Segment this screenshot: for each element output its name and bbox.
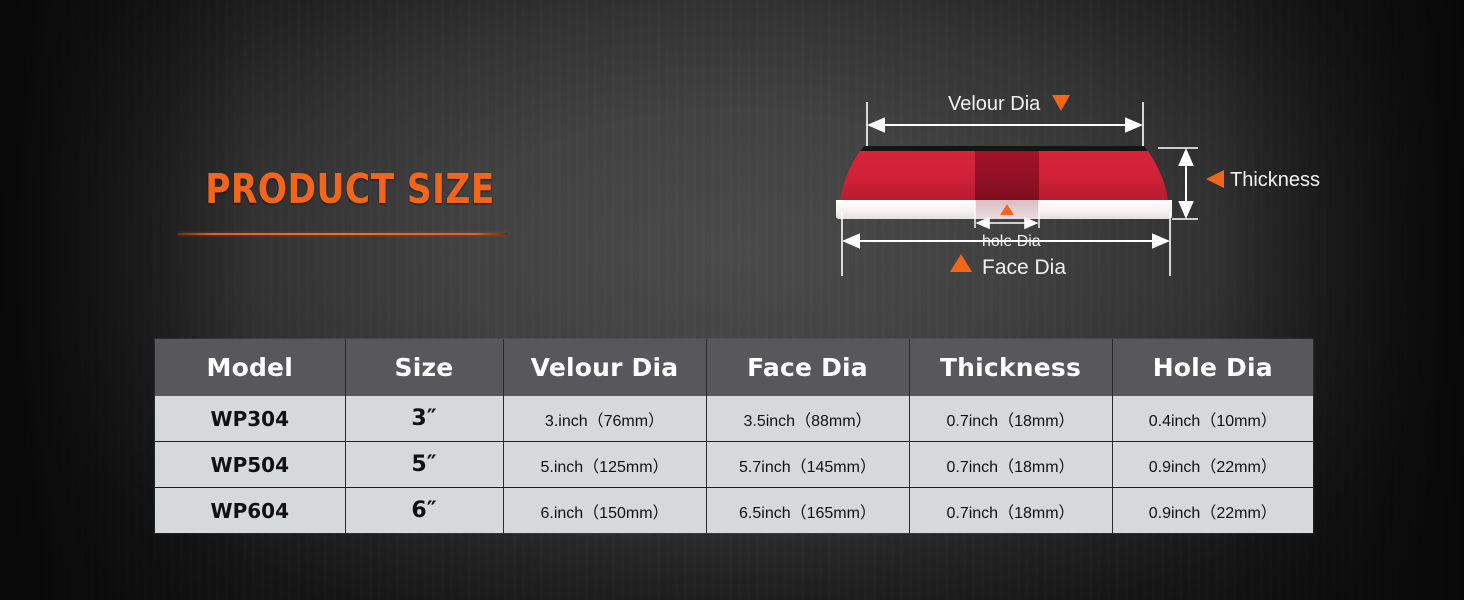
cell-thickness: 0.7inch（18mm） — [909, 396, 1112, 442]
cell-velour-dia: 5.inch（125mm） — [503, 442, 706, 488]
cell-model: WP504 — [155, 442, 345, 488]
cell-hole-dia: 0.9inch（22mm） — [1112, 488, 1313, 534]
column-header-size: Size — [345, 339, 503, 396]
velour-dia-marker-triangle — [1052, 95, 1070, 111]
cell-velour-dia: 6.inch（150mm） — [503, 488, 706, 534]
column-header-hole-dia: Hole Dia — [1112, 339, 1313, 396]
thickness-label: Thickness — [1230, 169, 1320, 191]
cell-face-dia: 3.5inch（88mm） — [706, 396, 909, 442]
title-block: PRODUCT SIZE — [178, 168, 518, 235]
cell-hole-dia: 0.4inch（10mm） — [1112, 396, 1313, 442]
cell-face-dia: 6.5inch（165mm） — [706, 488, 909, 534]
thickness-marker-triangle — [1206, 170, 1224, 188]
cell-size: 5″ — [345, 442, 503, 488]
face-dia-label: Face Dia — [982, 256, 1066, 279]
cell-face-dia: 5.7inch（145mm） — [706, 442, 909, 488]
cell-thickness: 0.7inch（18mm） — [909, 442, 1112, 488]
table-row: WP604 6″ 6.inch（150mm） 6.5inch（165mm） 0.… — [155, 488, 1313, 534]
cell-velour-dia: 3.inch（76mm） — [503, 396, 706, 442]
pad-dimension-diagram: Velour Dia Thickness — [820, 80, 1340, 295]
column-header-face-dia: Face Dia — [706, 339, 909, 396]
table-row: WP504 5″ 5.inch（125mm） 5.7inch（145mm） 0.… — [155, 442, 1313, 488]
table-header-row: Model Size Velour Dia Face Dia Thickness… — [155, 339, 1313, 396]
cell-thickness: 0.7inch（18mm） — [909, 488, 1112, 534]
spec-table: Model Size Velour Dia Face Dia Thickness… — [155, 339, 1313, 533]
column-header-thickness: Thickness — [909, 339, 1112, 396]
pad-body-red-center-dark — [975, 151, 1039, 200]
cell-model: WP304 — [155, 396, 345, 442]
pad-body-red-left — [840, 151, 975, 200]
cell-size: 6″ — [345, 488, 503, 534]
title-underline-rule — [178, 233, 508, 235]
velour-dia-label: Velour Dia — [948, 93, 1041, 115]
table-row: WP304 3″ 3.inch（76mm） 3.5inch（88mm） 0.7i… — [155, 396, 1313, 442]
face-dia-marker-triangle — [950, 254, 972, 272]
pad-body-red-right — [1039, 151, 1168, 200]
column-header-velour-dia: Velour Dia — [503, 339, 706, 396]
cell-hole-dia: 0.9inch（22mm） — [1112, 442, 1313, 488]
column-header-model: Model — [155, 339, 345, 396]
product-size-banner: PRODUCT SIZE — [0, 0, 1464, 600]
page-title: PRODUCT SIZE — [205, 168, 491, 211]
cell-size: 3″ — [345, 396, 503, 442]
cell-model: WP604 — [155, 488, 345, 534]
